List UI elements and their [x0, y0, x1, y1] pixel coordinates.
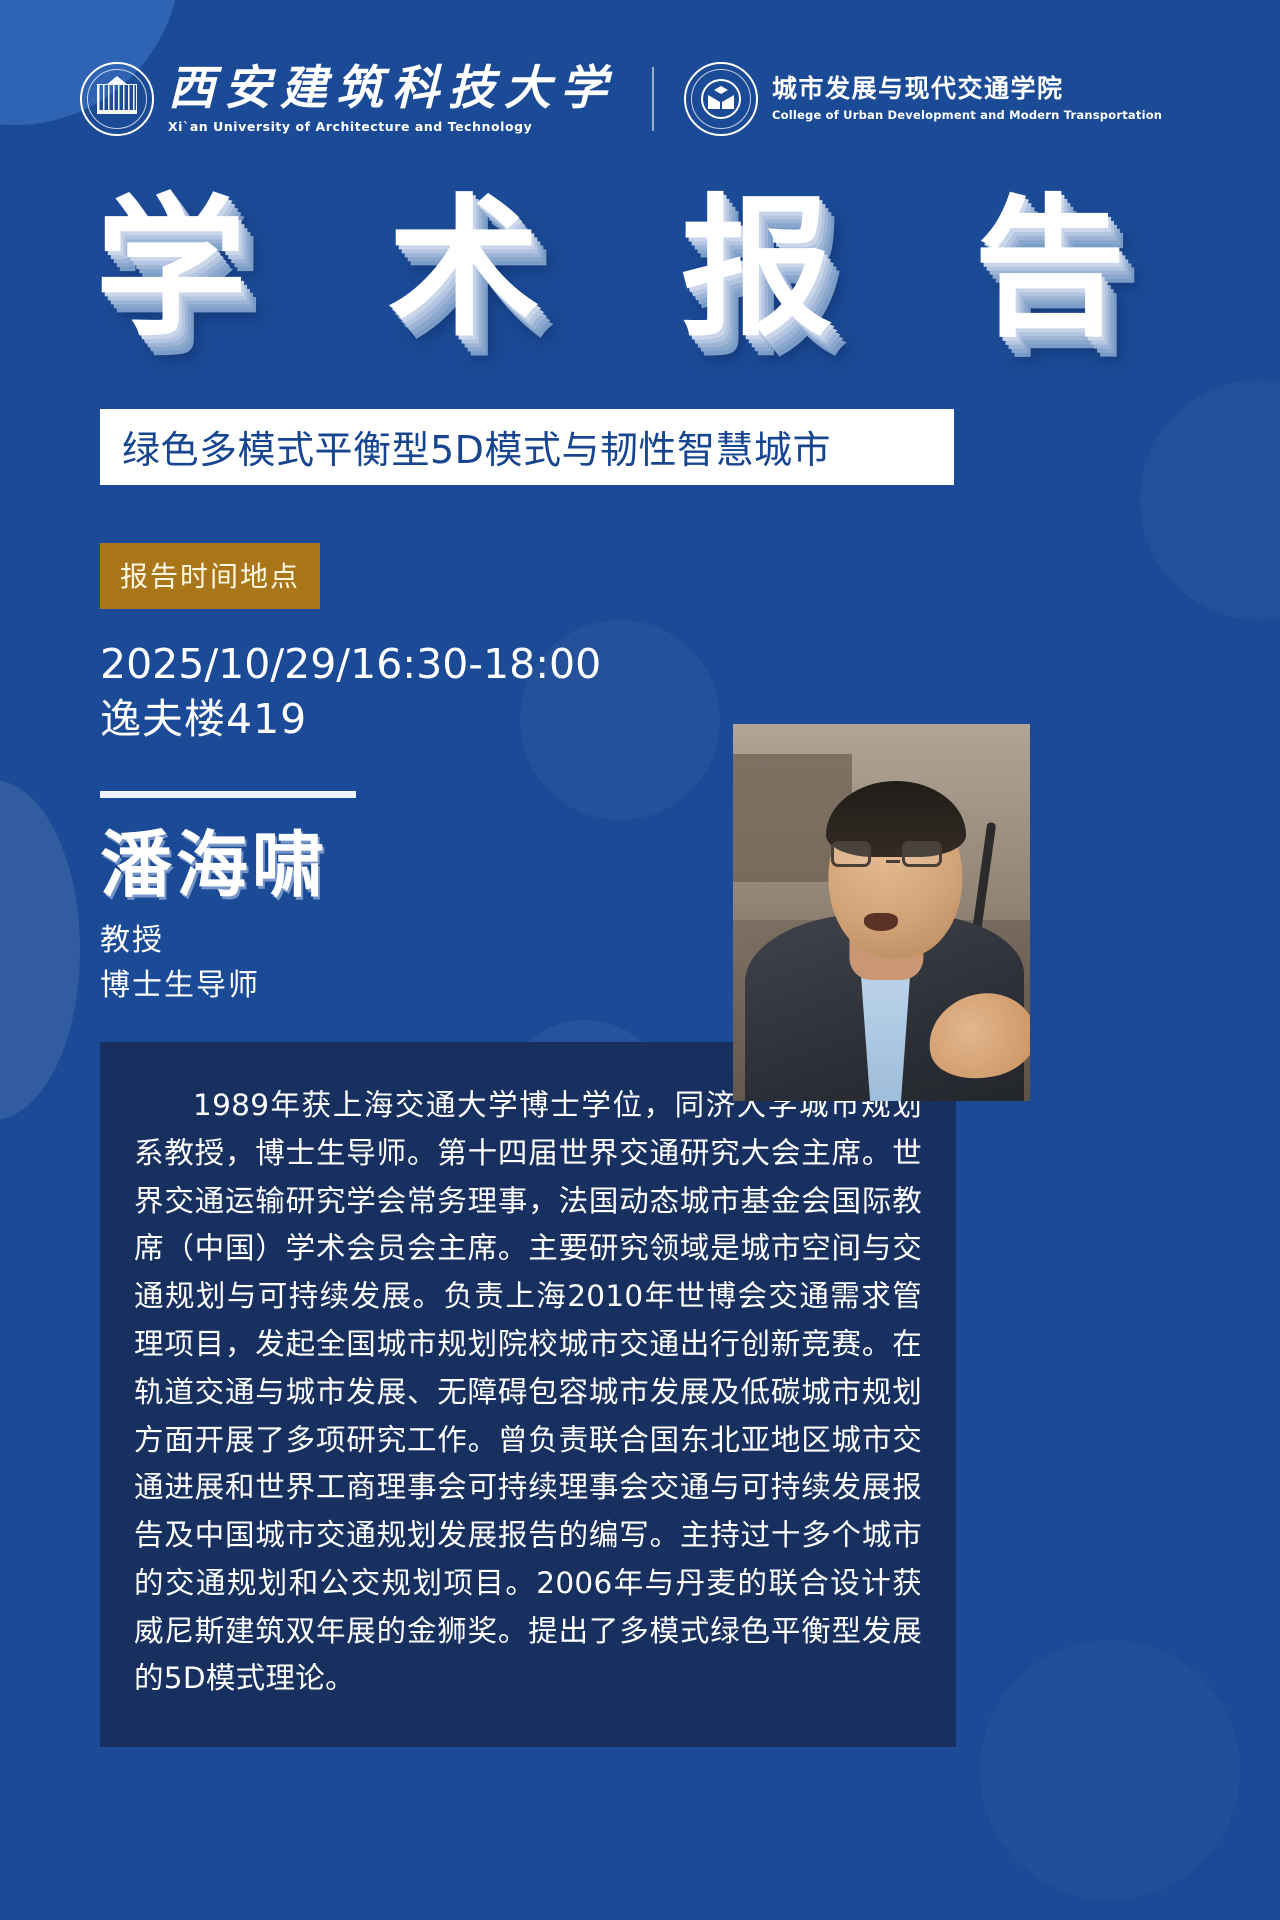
speaker-name: 潘海啸 [100, 828, 1280, 904]
university-logo: 西安建筑科技大学 Xi`an University of Architectur… [80, 62, 616, 136]
speaker-role-line-1: 教授 [100, 918, 1280, 963]
speaker-bio-text: 1989年获上海交通大学博士学位，同济大学城市规划系教授，博士生导师。第十四届世… [134, 1082, 922, 1703]
speaker-bio-box: 1989年获上海交通大学博士学位，同济大学城市规划系教授，博士生导师。第十四届世… [100, 1042, 956, 1747]
lecture-subtitle: 绿色多模式平衡型5D模式与韧性智慧城市 [122, 419, 831, 474]
poster-header: 西安建筑科技大学 Xi`an University of Architectur… [0, 0, 1280, 136]
college-logo: 城市发展与现代交通学院 College of Urban Development… [684, 62, 1162, 136]
lecture-info-block: 报告时间地点 2025/10/29/16:30-18:00 逸夫楼419 潘海啸… [0, 543, 1280, 1008]
university-name-cn: 西安建筑科技大学 [168, 65, 616, 112]
college-seal-icon [684, 62, 758, 136]
lecture-venue: 逸夫楼419 [100, 692, 1280, 747]
college-name-en: College of Urban Development and Modern … [772, 108, 1162, 122]
speaker-portrait [733, 724, 1030, 1101]
lecture-datetime: 2025/10/29/16:30-18:00 [100, 637, 1280, 692]
decor-circle-bottom [980, 1640, 1240, 1900]
vertical-divider-icon [652, 67, 654, 131]
speaker-role: 教授 博士生导师 [100, 918, 1280, 1008]
time-location-tag: 报告时间地点 [100, 543, 320, 609]
university-seal-icon [80, 62, 154, 136]
speaker-role-line-2: 博士生导师 [100, 963, 1280, 1008]
university-name-en: Xi`an University of Architecture and Tec… [168, 119, 616, 134]
college-name-cn: 城市发展与现代交通学院 [772, 76, 1162, 101]
lecture-subtitle-bar: 绿色多模式平衡型5D模式与韧性智慧城市 [100, 409, 954, 485]
horizontal-rule [100, 791, 356, 798]
page-title: 学 术 报 告 [95, 182, 1280, 357]
